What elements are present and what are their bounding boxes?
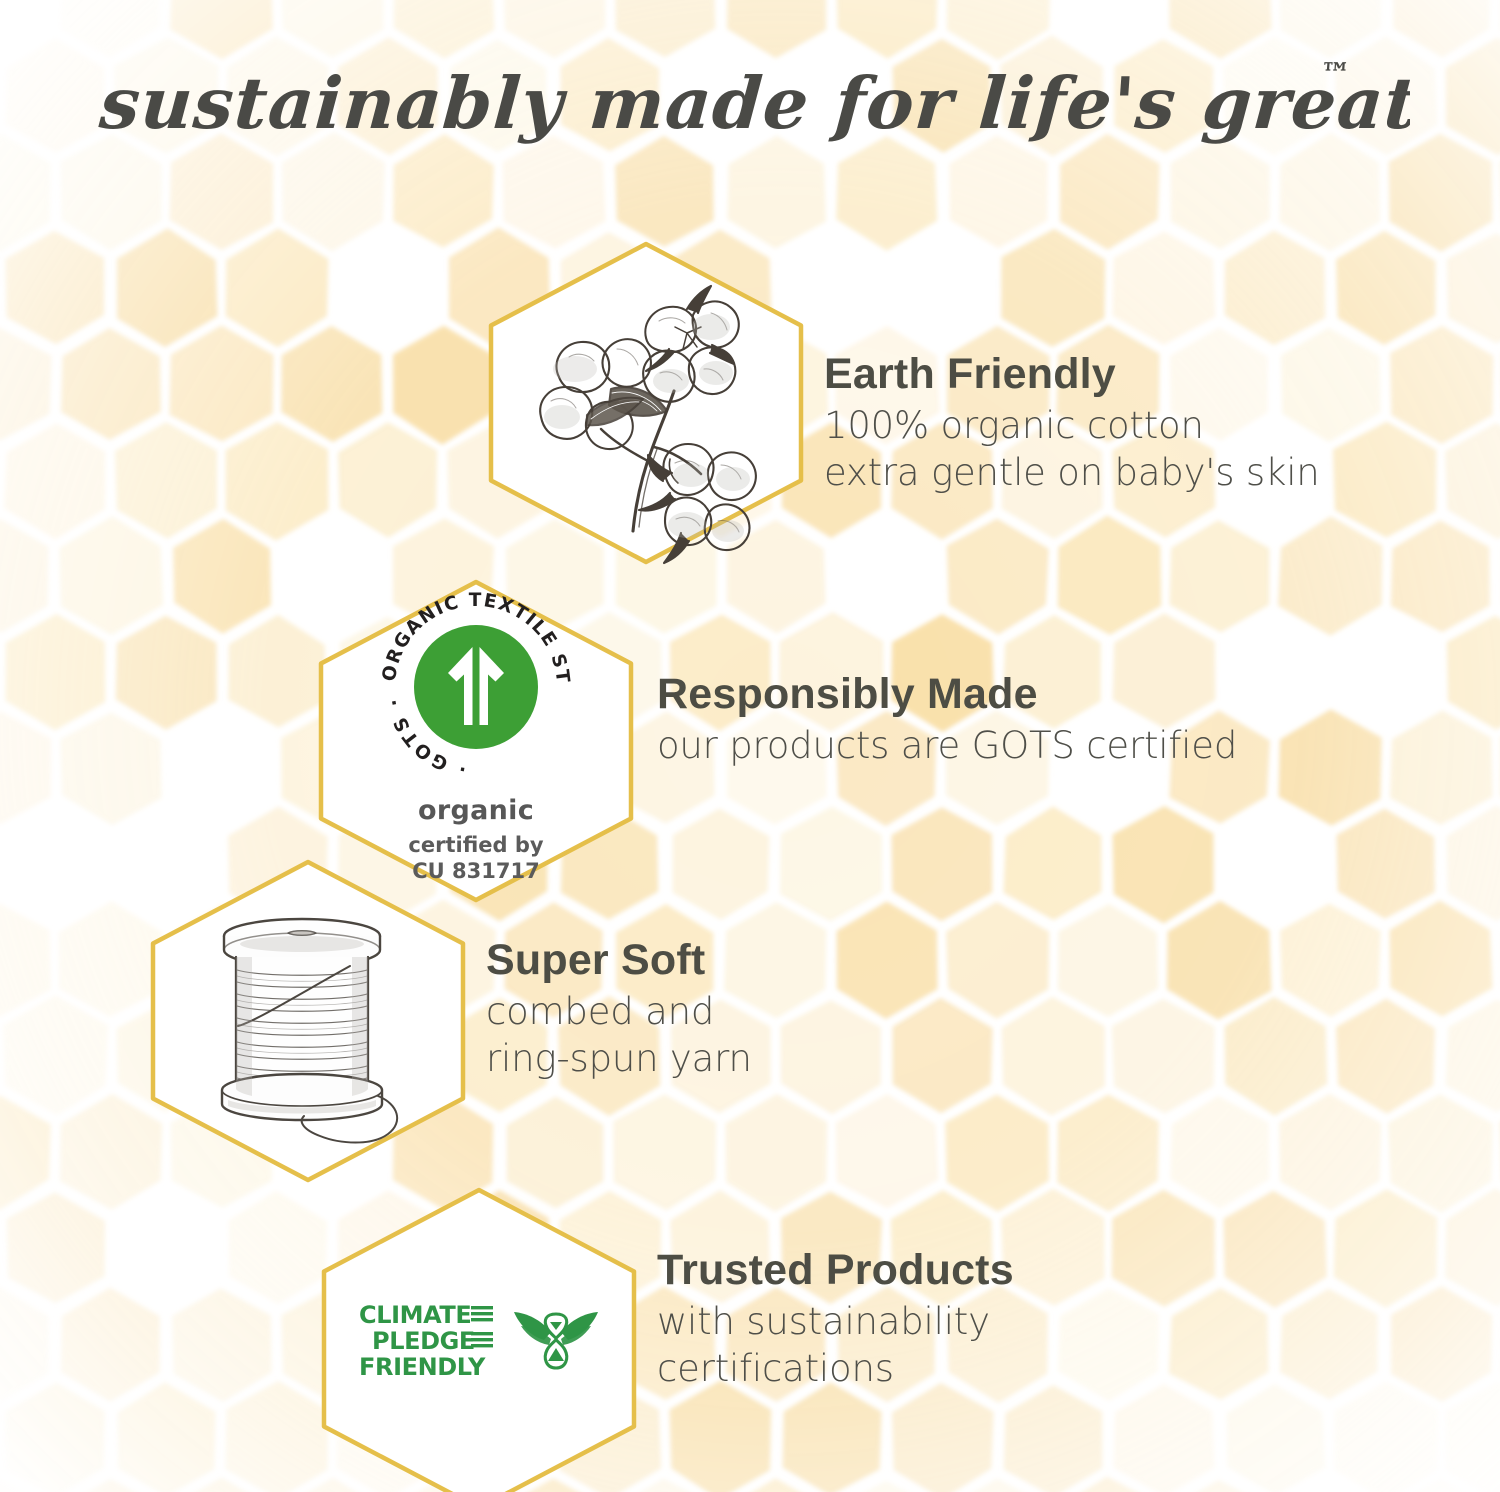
climate-pledge-friendly-icon: CLIMATE PLEDGE FRIENDLY <box>359 1301 599 1385</box>
feature-line: with sustainability <box>657 1299 1014 1346</box>
feature-line: extra gentle on baby's skin <box>824 450 1320 497</box>
gots-certified-by-label: certified by <box>408 833 543 859</box>
cotton-plant-sketch-icon <box>515 269 777 537</box>
feature-title: Super Soft <box>486 938 752 983</box>
feature-hex-card-trusted-products: CLIMATE PLEDGE FRIENDLY <box>316 1186 642 1492</box>
gots-green-disc <box>414 625 538 749</box>
feature-line: ring-spun yarn <box>486 1036 752 1083</box>
feature-text-responsibly-made: Responsibly Made our products are GOTS c… <box>657 672 1237 770</box>
feature-hex-card-responsibly-made: GLOBAL ORGANIC TEXTILE STANDARD · GOTS ·… <box>313 578 639 904</box>
svg-text:PLEDGE: PLEDGE <box>372 1327 475 1355</box>
feature-line: our products are GOTS certified <box>657 723 1237 770</box>
winged-hourglass-icon <box>513 1306 599 1380</box>
feature-title: Earth Friendly <box>824 352 1320 397</box>
feature-text-super-soft: Super Soft combed and ring-spun yarn <box>486 938 752 1082</box>
svg-text:CLIMATE: CLIMATE <box>359 1301 471 1329</box>
feature-text-trusted-products: Trusted Products with sustainability cer… <box>657 1248 1014 1392</box>
headline: sustainably made for life's greatest joy… <box>0 46 1500 164</box>
gots-certification-icon: GLOBAL ORGANIC TEXTILE STANDARD · GOTS ·… <box>378 589 574 884</box>
climate-pledge-friendly-wordmark: CLIMATE PLEDGE FRIENDLY <box>359 1301 499 1385</box>
infographic-canvas: sustainably made for life's greatest joy… <box>0 0 1500 1492</box>
feature-hex-card-earth-friendly <box>483 240 809 566</box>
feature-title: Trusted Products <box>657 1248 1014 1293</box>
feature-line: certifications <box>657 1346 1014 1393</box>
gots-organic-label: organic <box>418 795 534 826</box>
feature-line: combed and <box>486 989 752 1036</box>
svg-text:™: ™ <box>1319 57 1351 92</box>
feature-line: 100% organic cotton <box>824 403 1320 450</box>
feature-title: Responsibly Made <box>657 672 1237 717</box>
svg-text:FRIENDLY: FRIENDLY <box>359 1353 486 1381</box>
feature-text-earth-friendly: Earth Friendly 100% organic cotton extra… <box>824 352 1320 496</box>
svg-text:sustainably made for life's gr: sustainably made for life's greatest joy <box>96 61 1410 145</box>
thread-spool-sketch-icon <box>192 900 432 1150</box>
feature-hex-card-super-soft <box>145 858 471 1184</box>
